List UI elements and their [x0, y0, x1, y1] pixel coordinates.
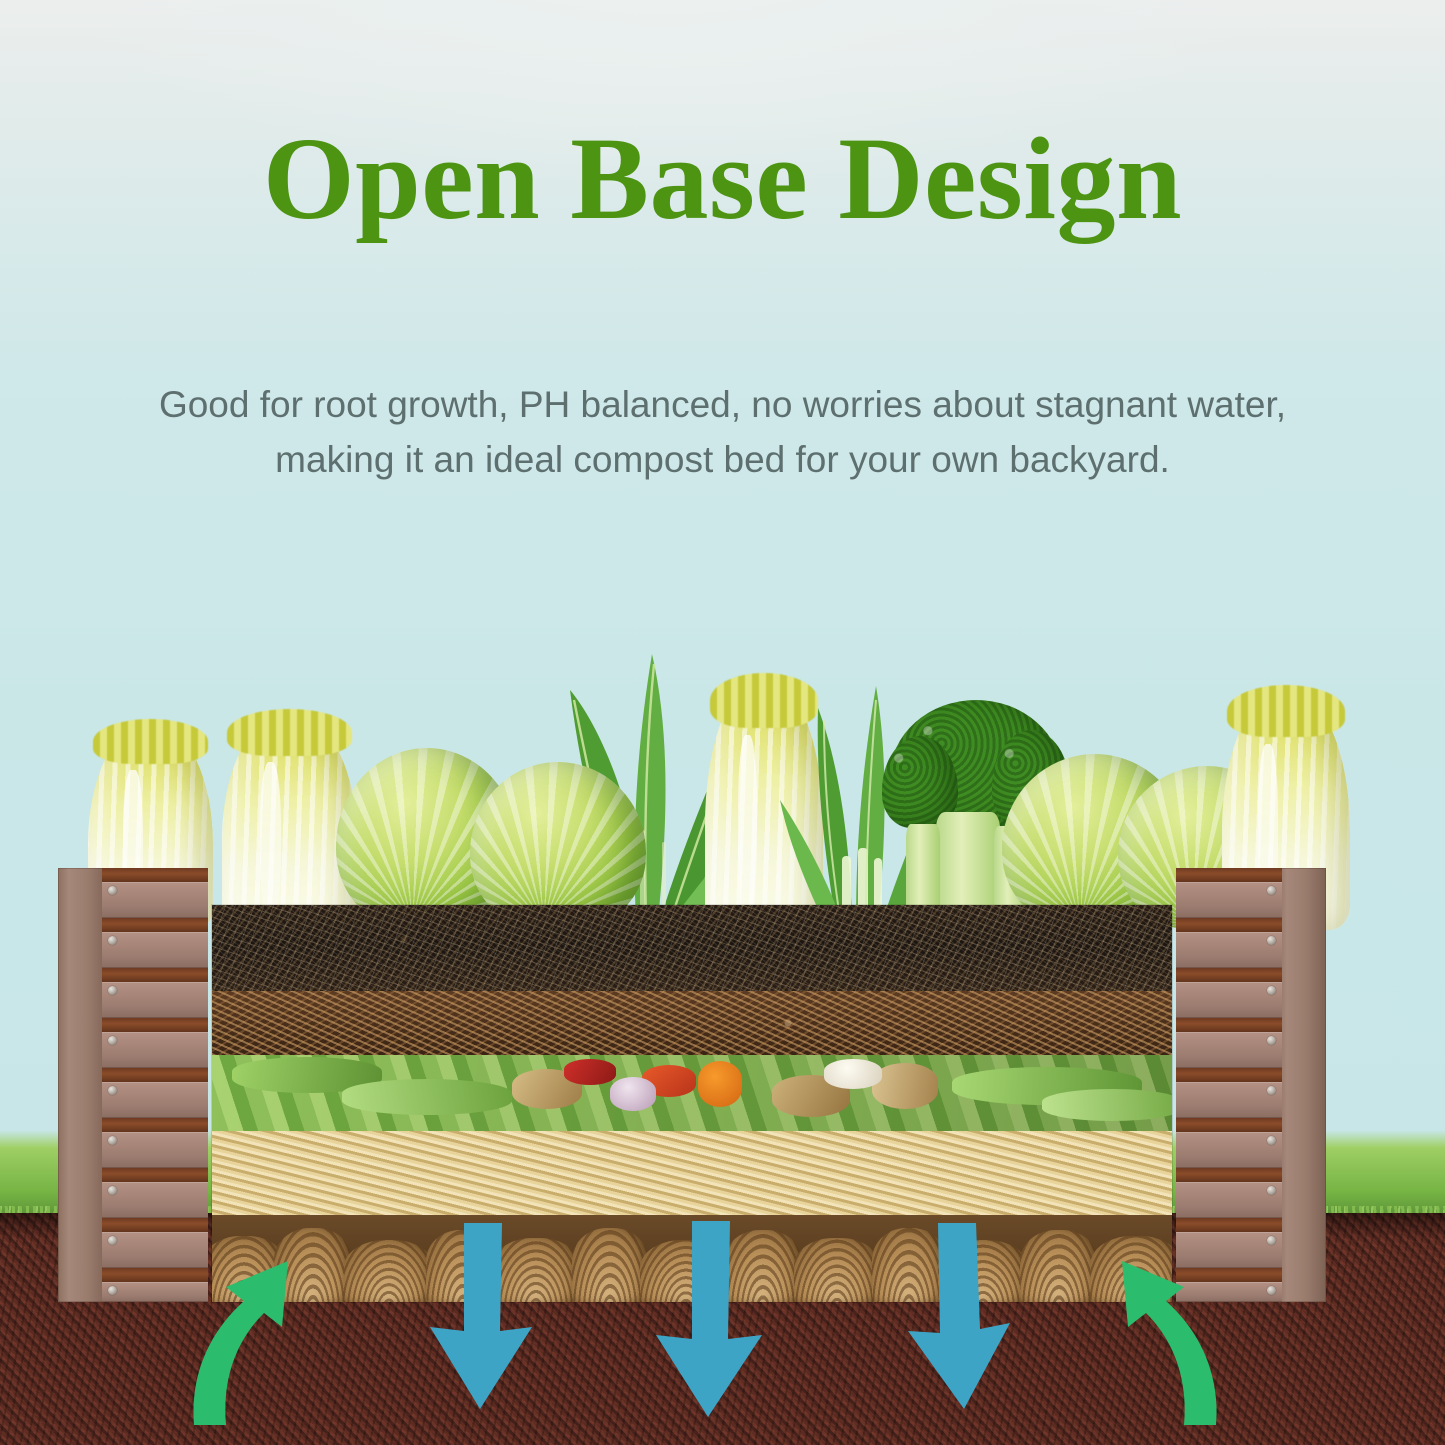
- screw: [1267, 1036, 1276, 1045]
- page-title: Open Base Design: [0, 120, 1445, 238]
- screw: [108, 936, 117, 945]
- screw: [108, 1186, 117, 1195]
- scrap-pepper: [564, 1059, 616, 1085]
- layer-straw-mulch: [212, 1131, 1172, 1215]
- layer-brown-compost: [212, 991, 1172, 1055]
- slat: [1176, 1132, 1282, 1168]
- screw: [108, 986, 117, 995]
- arrow-down-center-icon: [648, 1221, 768, 1421]
- slat-gap: [102, 1168, 208, 1182]
- slat: [102, 982, 208, 1018]
- screw: [108, 1086, 117, 1095]
- subtitle-line-2: making it an ideal compost bed for your …: [113, 433, 1333, 488]
- screw: [1267, 986, 1276, 995]
- slat: [1176, 882, 1282, 918]
- arrow-down-left-icon: [420, 1223, 540, 1413]
- slat-gap: [1176, 1018, 1282, 1032]
- screw: [1267, 1136, 1276, 1145]
- screw: [108, 1036, 117, 1045]
- scrap-eggshell: [824, 1059, 882, 1089]
- slat-gap: [102, 868, 208, 882]
- slat: [1176, 982, 1282, 1018]
- slat: [1176, 1032, 1282, 1068]
- slat-gap: [102, 1068, 208, 1082]
- slat: [102, 1132, 208, 1168]
- slat-gap: [102, 918, 208, 932]
- screw: [1267, 1086, 1276, 1095]
- subtitle-line-1: Good for root growth, PH balanced, no wo…: [113, 378, 1333, 433]
- layer-dark-topsoil: [212, 905, 1172, 991]
- scrap-leek-2: [342, 1079, 512, 1115]
- slat: [102, 1082, 208, 1118]
- slat: [1176, 1082, 1282, 1118]
- slat: [102, 1182, 208, 1218]
- veg-napa-cabbage-2: [222, 715, 357, 930]
- slat-gap: [1176, 918, 1282, 932]
- slat: [1176, 1182, 1282, 1218]
- slat: [102, 882, 208, 918]
- screw: [1267, 1186, 1276, 1195]
- screw: [1267, 936, 1276, 945]
- layer-kitchen-scraps: [212, 1055, 1172, 1131]
- arrow-up-left-icon: [170, 1227, 350, 1427]
- screw: [108, 886, 117, 895]
- slat: [1176, 932, 1282, 968]
- product-feature-banner: Open Base Design Good for root growth, P…: [0, 0, 1445, 1445]
- scrap-carrot: [698, 1061, 742, 1107]
- slat-gap: [1176, 1118, 1282, 1132]
- slat: [102, 932, 208, 968]
- airflow-arrow-group: [0, 1225, 1445, 1445]
- screw: [108, 1136, 117, 1145]
- slat-gap: [1176, 868, 1282, 882]
- slat-gap: [102, 1018, 208, 1032]
- slat-gap: [1176, 1168, 1282, 1182]
- slat: [102, 1032, 208, 1068]
- slat-gap: [1176, 1068, 1282, 1082]
- screw: [1267, 886, 1276, 895]
- scrap-onion: [610, 1077, 656, 1111]
- page-subtitle: Good for root growth, PH balanced, no wo…: [113, 378, 1333, 488]
- arrow-up-right-icon: [1060, 1227, 1240, 1427]
- slat-gap: [1176, 968, 1282, 982]
- slat-gap: [102, 968, 208, 982]
- scrap-leek-4: [1042, 1089, 1172, 1121]
- arrow-down-right-icon: [898, 1223, 1018, 1413]
- slat-gap: [102, 1118, 208, 1132]
